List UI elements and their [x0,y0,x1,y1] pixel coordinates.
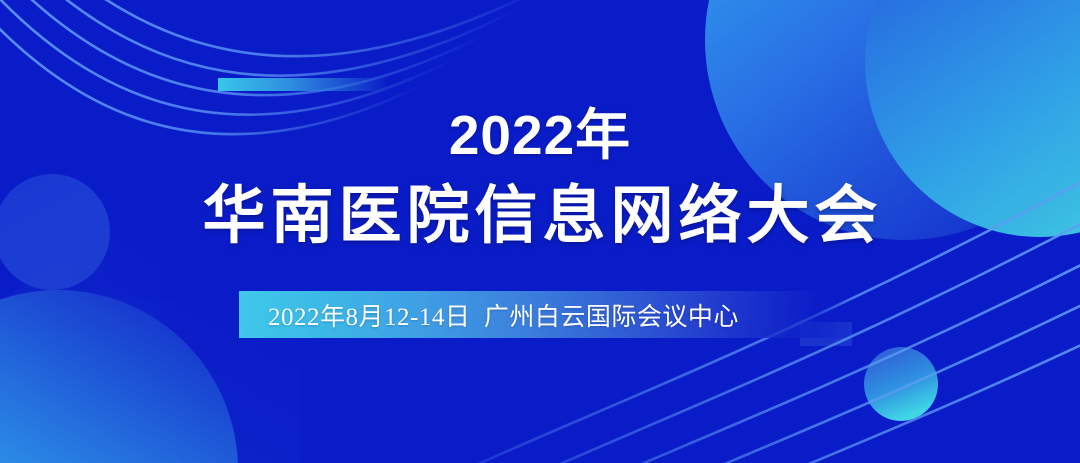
banner-content: 2022年 华南医院信息网络大会 [0,0,1080,463]
banner-title: 华南医院信息网络大会 [0,180,1080,252]
banner-subtitle: 2022年8月12-14日 广州白云国际会议中心 [268,291,739,338]
conference-banner: 2022年 华南医院信息网络大会 2022年8月12-14日 广州白云国际会议中… [0,0,1080,463]
banner-year: 2022年 [0,104,1080,166]
